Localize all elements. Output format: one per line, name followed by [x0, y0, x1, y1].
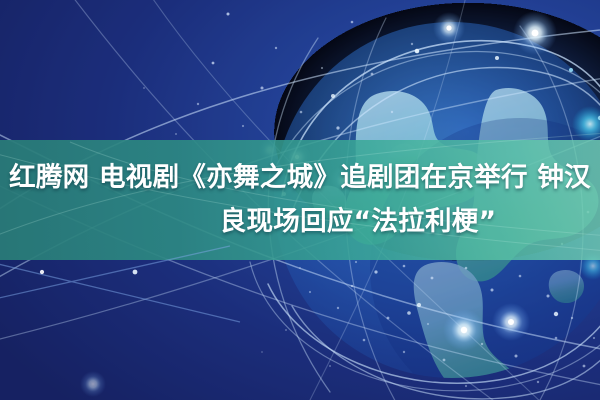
- headline-line-2: 良现场回应“法拉利梗”: [220, 200, 497, 244]
- news-thumbnail-banner: 红腾网 电视剧《亦舞之城》追剧团在京举行 钟汉 良现场回应“法拉利梗”: [0, 0, 600, 400]
- lower-left-node: [40, 270, 44, 274]
- headline-text-block: 红腾网 电视剧《亦舞之城》追剧团在京举行 钟汉 良现场回应“法拉利梗”: [0, 140, 600, 260]
- headline-line-1: 红腾网 电视剧《亦舞之城》追剧团在京举行 钟汉: [9, 156, 591, 200]
